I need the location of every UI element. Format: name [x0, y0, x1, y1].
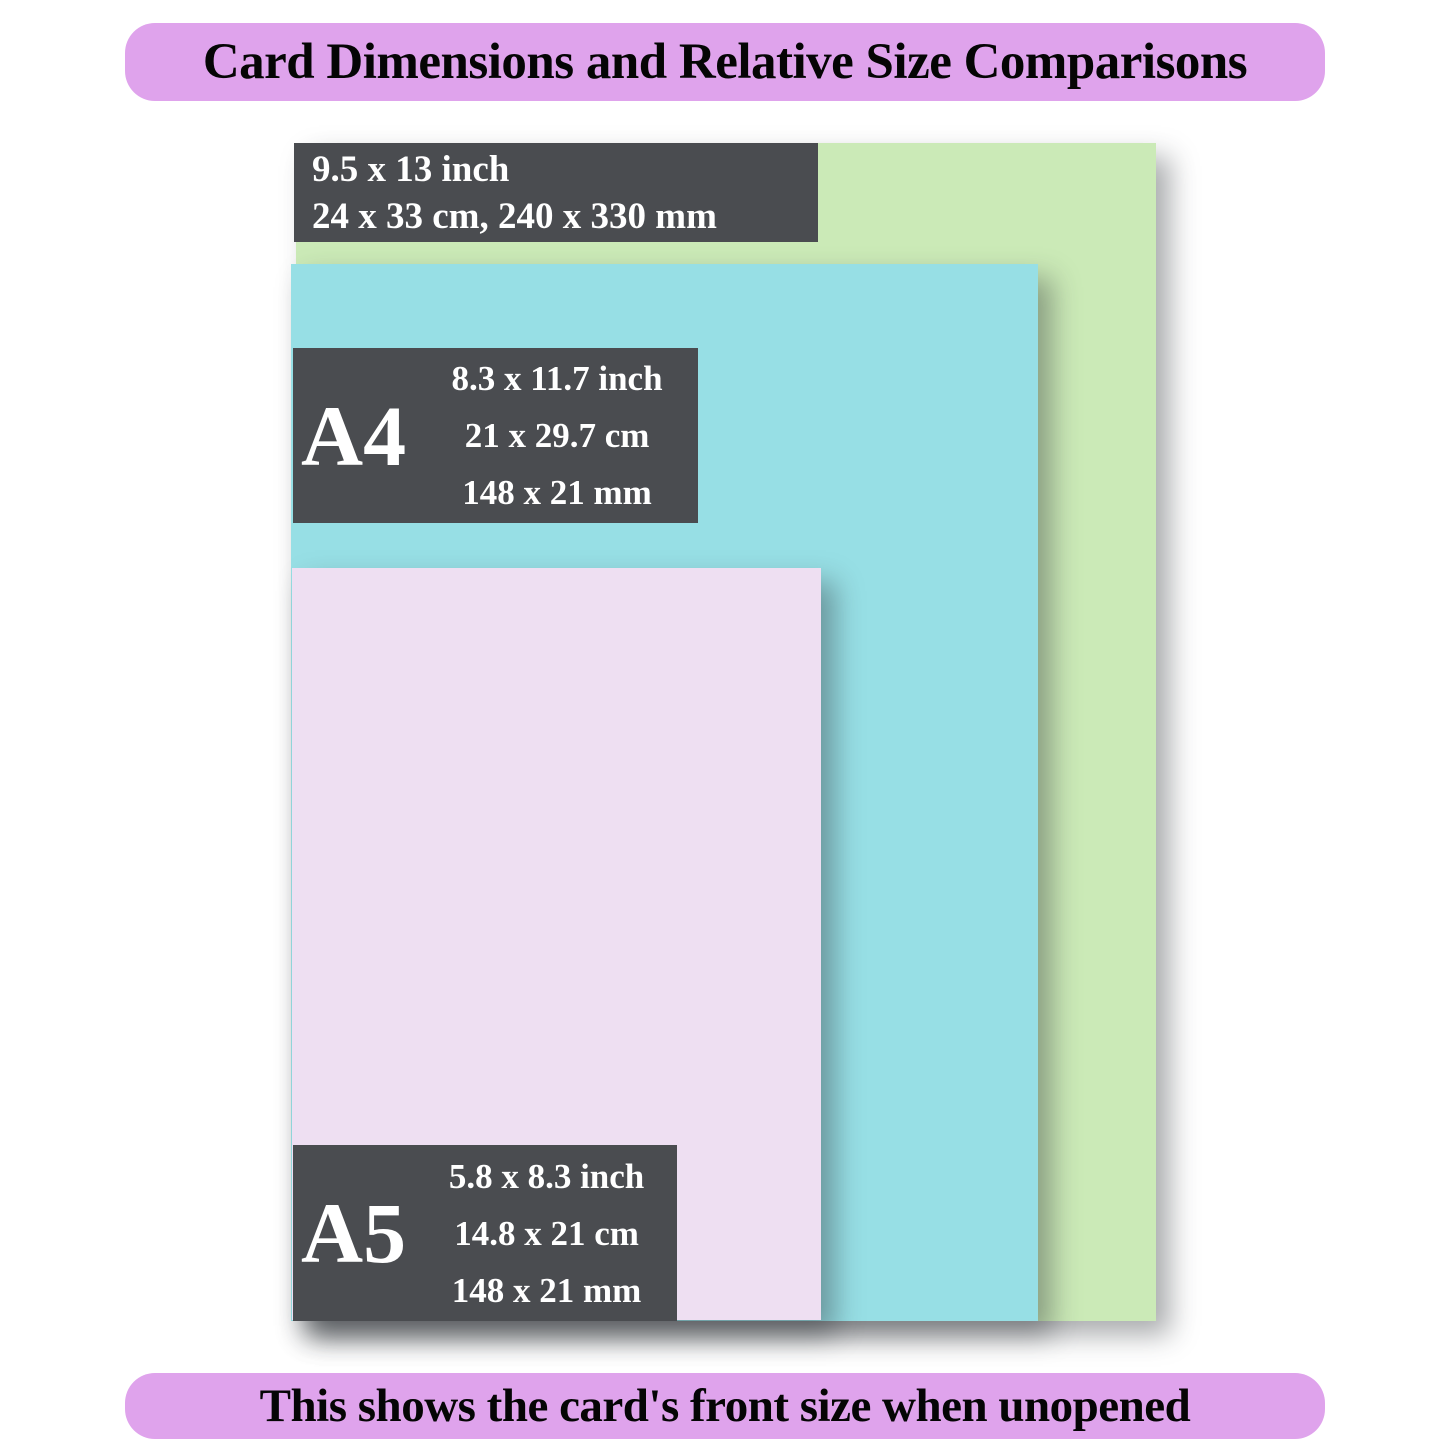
a4-size-label-lines: 8.3 x 11.7 inch 21 x 29.7 cm 148 x 21 mm: [416, 348, 698, 523]
largest-size-label: 9.5 x 13 inch 24 x 33 cm, 240 x 330 mm: [294, 143, 818, 242]
a5-size-code: A5: [293, 1190, 416, 1276]
largest-size-metric-line: 24 x 33 cm, 240 x 330 mm: [312, 198, 818, 235]
title-banner: Card Dimensions and Relative Size Compar…: [125, 23, 1325, 101]
a5-size-label: A5 5.8 x 8.3 inch 14.8 x 21 cm 148 x 21 …: [293, 1145, 677, 1321]
a4-size-label: A4 8.3 x 11.7 inch 21 x 29.7 cm 148 x 21…: [293, 348, 698, 523]
a4-cm-line: 21 x 29.7 cm: [465, 418, 650, 453]
infographic-canvas: Card Dimensions and Relative Size Compar…: [0, 0, 1445, 1445]
largest-size-label-lines: 9.5 x 13 inch 24 x 33 cm, 240 x 330 mm: [312, 143, 818, 242]
a4-inch-line: 8.3 x 11.7 inch: [452, 361, 663, 396]
a5-inch-line: 5.8 x 8.3 inch: [449, 1159, 644, 1194]
a5-size-label-lines: 5.8 x 8.3 inch 14.8 x 21 cm 148 x 21 mm: [416, 1145, 677, 1321]
title-banner-text: Card Dimensions and Relative Size Compar…: [203, 33, 1247, 91]
a4-size-code: A4: [293, 393, 416, 479]
largest-size-inch-line: 9.5 x 13 inch: [312, 151, 818, 188]
a5-mm-line: 148 x 21 mm: [452, 1273, 642, 1308]
footer-banner: This shows the card's front size when un…: [125, 1373, 1325, 1439]
a5-cm-line: 14.8 x 21 cm: [454, 1216, 639, 1251]
a4-mm-line: 148 x 21 mm: [462, 475, 652, 510]
footer-banner-text: This shows the card's front size when un…: [260, 1379, 1191, 1433]
